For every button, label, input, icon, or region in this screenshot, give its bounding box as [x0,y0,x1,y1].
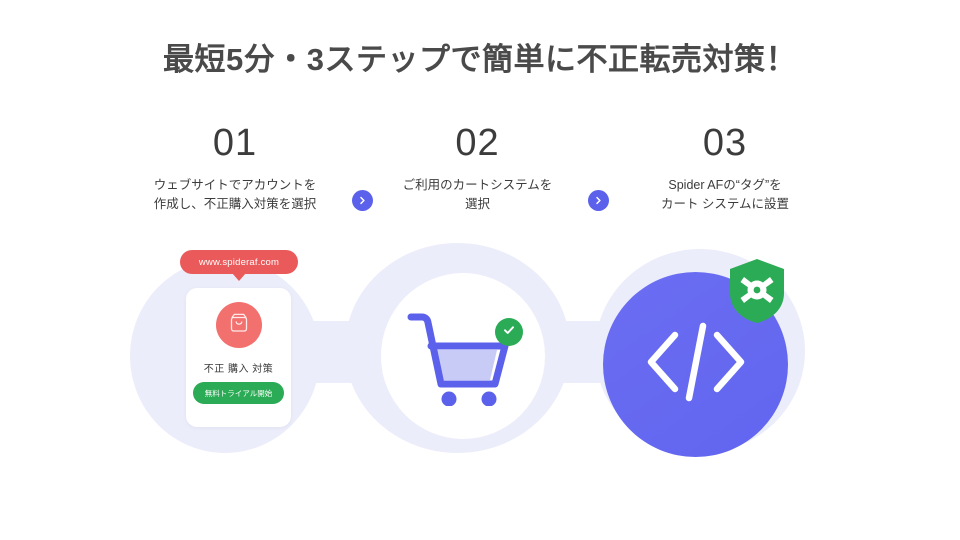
step-connector-arrow-2 [588,190,609,211]
shield-spider-icon [726,257,788,330]
step-number-03: 03 [610,120,840,168]
page-title: 最短5分・3ステップで簡単に不正転売対策！ [0,34,960,79]
step-item-02: 02 ご利用のカートシステムを 選択 [375,120,580,214]
card-label: 不正 購入 対策 [186,360,291,375]
steps-row: 01 ウェブサイトでアカウントを 作成し、不正購入対策を選択 02 ご利用のカー… [120,120,840,230]
shopping-bag-icon [227,311,251,340]
chevron-right-icon [593,195,604,206]
cart-check-badge [495,318,523,346]
cart-illustration [381,273,545,439]
free-trial-button[interactable]: 無料トライアル開始 [193,382,284,404]
url-tooltip-bubble: www.spideraf.com [180,250,298,274]
step-number-01: 01 [120,120,350,168]
url-tooltip-label: www.spideraf.com [199,257,279,268]
shopping-bag-badge [216,302,262,348]
chevron-right-icon [357,195,368,206]
blob-bridge-1 [280,321,390,383]
step-number-02: 02 [375,120,580,168]
step-description-03: Spider AFの“タグ”を カート システムに設置 [610,176,840,215]
code-tag-icon [641,319,751,410]
step-description-02: ご利用のカートシステムを 選択 [375,176,580,215]
shield-badge [726,257,788,325]
step-connector-arrow-1 [352,190,373,211]
step-description-01: ウェブサイトでアカウントを 作成し、不正購入対策を選択 [120,176,350,215]
step-item-01: 01 ウェブサイトでアカウントを 作成し、不正購入対策を選択 [120,120,350,214]
step-item-03: 03 Spider AFの“タグ”を カート システムに設置 [610,120,840,214]
site-signup-card: 不正 購入 対策 無料トライアル開始 [186,288,291,427]
check-icon [501,322,517,343]
